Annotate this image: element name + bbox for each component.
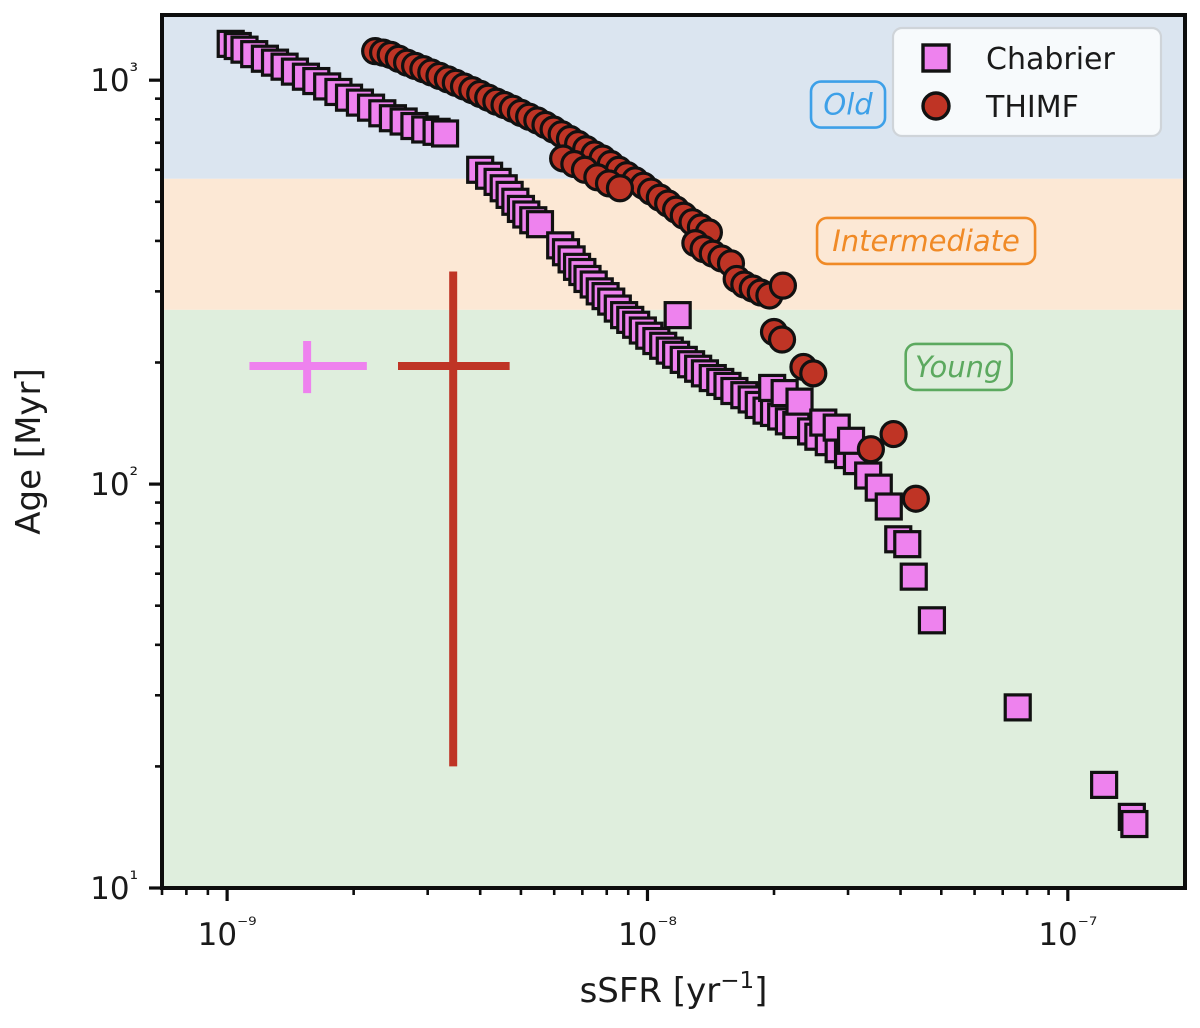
band-young bbox=[162, 310, 1185, 888]
data-point bbox=[876, 494, 901, 519]
data-point bbox=[903, 486, 928, 511]
band-label-old: Old bbox=[823, 88, 873, 122]
data-point bbox=[881, 422, 906, 447]
legend-marker-square bbox=[923, 45, 949, 71]
data-point bbox=[1092, 772, 1117, 797]
legend[interactable]: ChabrierTHIMF bbox=[893, 28, 1161, 136]
data-point bbox=[787, 389, 812, 414]
legend-label-chabrier: Chabrier bbox=[986, 42, 1116, 77]
y-tick-label: 10¹ bbox=[90, 867, 138, 907]
band-layer bbox=[162, 15, 1185, 888]
data-point bbox=[895, 532, 920, 557]
scatter-plot-svg: 10⁻⁹10⁻⁸10⁻⁷10³10²10¹ OldIntermediateYou… bbox=[0, 0, 1200, 1028]
x-axis-title: sSFR [yr−1] bbox=[580, 968, 768, 1011]
y-tick-label: 10³ bbox=[90, 59, 138, 99]
data-point bbox=[1122, 812, 1147, 837]
data-point bbox=[433, 121, 458, 146]
data-point bbox=[1005, 695, 1030, 720]
data-point bbox=[770, 327, 795, 352]
figure-canvas: 10⁻⁹10⁻⁸10⁻⁷10³10²10¹ OldIntermediateYou… bbox=[0, 0, 1200, 1028]
band-label-young: Young bbox=[915, 350, 1002, 384]
data-point bbox=[770, 273, 795, 298]
data-point bbox=[858, 437, 883, 462]
x-tick-label: 10⁻⁷ bbox=[1038, 913, 1097, 953]
legend-label-thimf: THIMF bbox=[985, 90, 1079, 125]
data-point bbox=[607, 176, 632, 201]
data-point bbox=[665, 303, 690, 328]
legend-marker-circle bbox=[923, 93, 949, 119]
x-tick-label: 10⁻⁹ bbox=[198, 913, 257, 953]
data-point bbox=[901, 564, 926, 589]
band-label-intermediate: Intermediate bbox=[832, 224, 1020, 258]
y-axis-title: Age [Myr] bbox=[9, 368, 49, 535]
y-tick-label: 10² bbox=[90, 463, 138, 503]
x-tick-label: 10⁻⁸ bbox=[618, 913, 677, 953]
data-point bbox=[919, 608, 944, 633]
data-point bbox=[801, 361, 826, 386]
